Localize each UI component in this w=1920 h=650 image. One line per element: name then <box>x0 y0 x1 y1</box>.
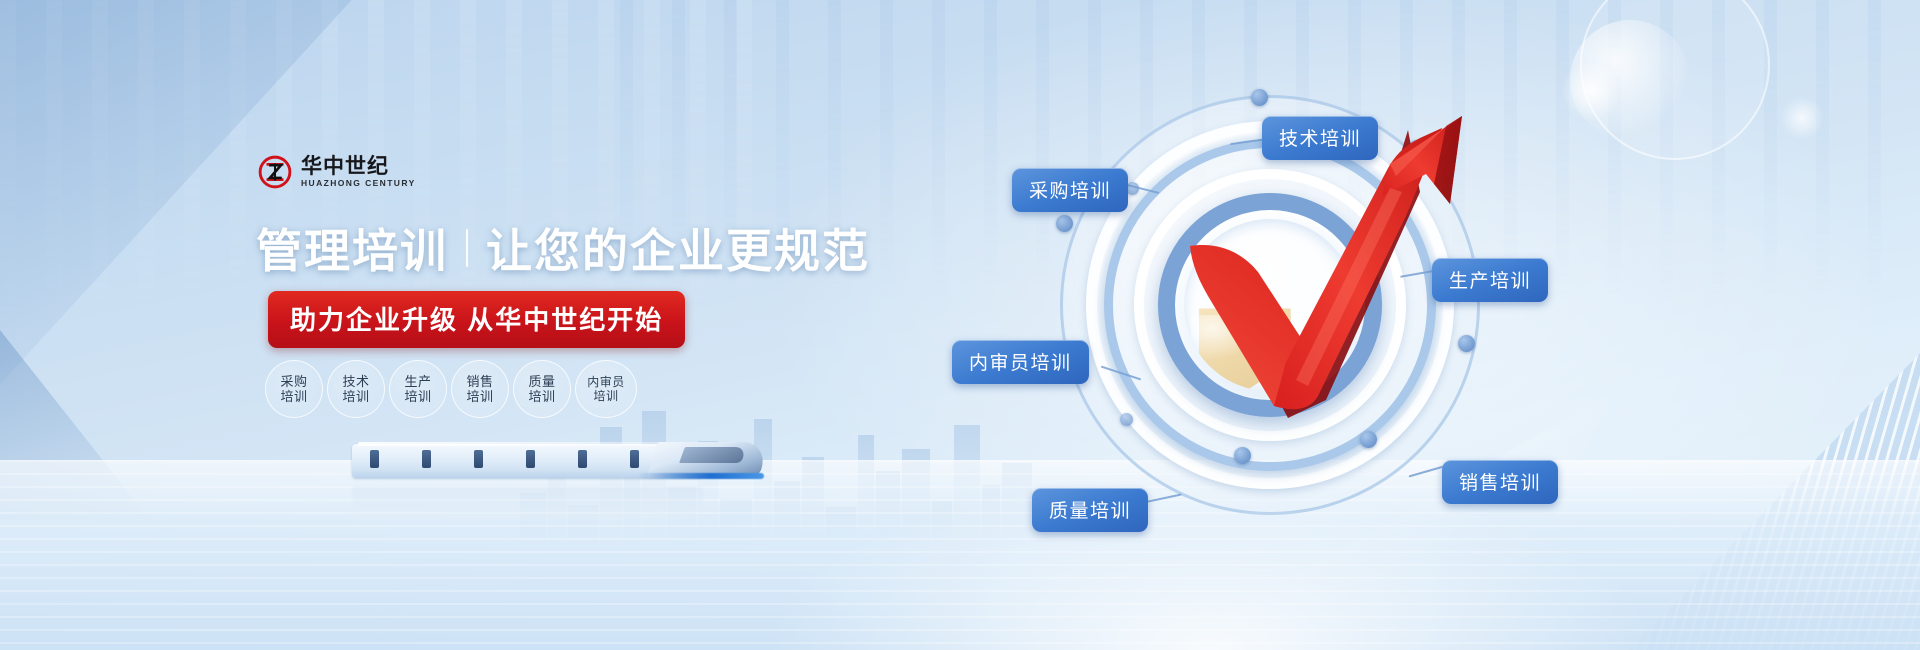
train-window <box>370 450 379 468</box>
train-windshield <box>679 447 747 463</box>
angular-wedge-lower-left <box>0 330 150 520</box>
tagline-badge: 助力企业升级 从华中世纪开始 <box>268 291 685 348</box>
training-chip-list: 采购培训技术培训生产培训销售培训质量培训内审员培训 <box>265 360 637 418</box>
training-chip-line1: 内审员 <box>587 375 625 389</box>
bokeh-ring-icon <box>1580 0 1770 160</box>
page-title: 管理培训 让您的企业更规范 <box>256 215 870 281</box>
training-chip-line2: 培训 <box>342 389 369 404</box>
training-chip[interactable]: 生产培训 <box>389 360 447 418</box>
floor-perspective-lines <box>0 460 1920 650</box>
skyline-building <box>982 485 1000 545</box>
training-promo-banner: 华中世纪 HUAZHONG CENTURY 管理培训 让您的企业更规范 助力企业… <box>0 0 1920 650</box>
pill-label-quality[interactable]: 质量培训 <box>1032 488 1148 532</box>
skyline-building <box>1002 463 1032 545</box>
training-chip-line2: 培训 <box>466 389 493 404</box>
train-window <box>474 450 483 468</box>
huazhong-circular-emblem-icon <box>258 155 292 189</box>
headline-primary: 管理培训 <box>256 215 448 281</box>
pill-label-internal-auditor[interactable]: 内审员培训 <box>952 340 1089 384</box>
red-check-arrow-icon <box>1090 100 1490 520</box>
skyline-building <box>774 481 800 545</box>
brand-name-en: HUAZHONG CENTURY <box>301 179 416 188</box>
training-chip-line2: 培训 <box>280 389 307 404</box>
training-chip[interactable]: 采购培训 <box>265 360 323 418</box>
train-window <box>578 450 587 468</box>
bokeh-dot-small-icon <box>1780 96 1824 140</box>
orbit-dot <box>1056 215 1073 232</box>
skyline-building <box>858 435 874 545</box>
reflective-floor <box>0 460 1920 650</box>
skyline-building <box>876 471 900 545</box>
headline-divider <box>466 229 468 267</box>
training-chip-line1: 质量 <box>528 374 555 389</box>
bokeh-circle-icon <box>1570 20 1690 140</box>
skyline-building <box>754 419 772 545</box>
pill-label-technical[interactable]: 技术培训 <box>1262 116 1378 160</box>
skyline-building <box>932 501 952 545</box>
pill-label-production[interactable]: 生产培训 <box>1432 258 1548 302</box>
train-window <box>526 450 535 468</box>
training-chip-line2: 培训 <box>404 389 431 404</box>
skyline-building <box>802 457 824 545</box>
brand-name-cn: 华中世纪 <box>301 156 416 177</box>
train-window <box>422 450 431 468</box>
training-chip-line2: 培训 <box>593 389 618 403</box>
train-window <box>630 450 639 468</box>
training-chip-line1: 技术 <box>342 374 369 389</box>
pill-label-sales[interactable]: 销售培训 <box>1442 460 1558 504</box>
skyline-building <box>826 507 856 545</box>
headline-secondary: 让您的企业更规范 <box>486 215 870 281</box>
training-chip-line2: 培训 <box>528 389 555 404</box>
high-speed-train-icon <box>352 436 752 482</box>
training-chip[interactable]: 质量培训 <box>513 360 571 418</box>
skyline-building <box>954 425 980 545</box>
training-chip[interactable]: 技术培训 <box>327 360 385 418</box>
training-chip[interactable]: 销售培训 <box>451 360 509 418</box>
train-reflection <box>352 484 752 528</box>
pill-label-procurement[interactable]: 采购培训 <box>1012 168 1128 212</box>
train-roof-highlight <box>358 442 688 446</box>
train-stripe <box>638 473 764 479</box>
training-chip-line1: 销售 <box>466 374 493 389</box>
training-chip[interactable]: 内审员培训 <box>575 360 637 418</box>
training-chip-line1: 采购 <box>280 374 307 389</box>
brand-logo: 华中世纪 HUAZHONG CENTURY <box>258 155 416 189</box>
skyline-building <box>902 449 930 545</box>
bokeh-dot-icon <box>1562 62 1620 120</box>
training-chip-line1: 生产 <box>404 374 431 389</box>
